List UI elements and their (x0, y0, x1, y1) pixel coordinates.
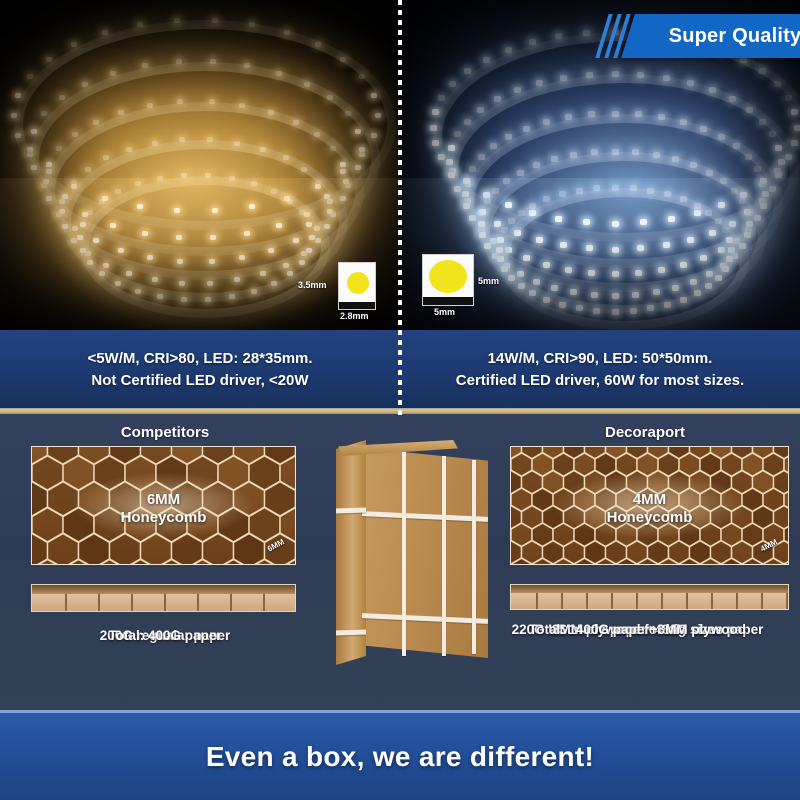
competitor-spec-line-2: Not Certified LED driver, <20W (91, 372, 308, 389)
decoraport-honeycomb-edge-strip (510, 584, 789, 610)
decoraport-led-chip-callout: 5mm 5mm (422, 254, 474, 306)
led-chip-width-label-right: 5mm (434, 307, 455, 317)
footer-headline: Even a box, we are different! (206, 741, 594, 773)
competitor-honeycomb-edge-strip (31, 584, 296, 612)
honeycomb-caption-left-line1: 6MM (32, 491, 295, 508)
led-chip-width-label: 2.8mm (340, 311, 369, 321)
led-chip-height-label: 3.5mm (298, 280, 327, 290)
strap-side-1 (336, 507, 366, 513)
cardboard-carton-illustration (336, 440, 488, 665)
honeycomb-caption-right: 4MM Honeycomb (511, 491, 788, 526)
competitor-led-chip-callout: 3.5mm 2.8mm (338, 262, 376, 310)
competitor-note-line-2: Total: 400G paper (0, 626, 330, 647)
decoraport-honeycomb-panel: 4MM Honeycomb 4MM (510, 446, 789, 565)
led-chip-body (338, 262, 376, 310)
competitor-honeycomb-panel: 6MM Honeycomb 6MM (31, 446, 296, 565)
decoraport-spec-block: 14W/M, CRI>90, LED: 50*50mm. Certified L… (400, 330, 800, 408)
carton-front-face (362, 448, 488, 658)
strap-side-2 (336, 629, 366, 635)
strap-vertical-2 (442, 456, 446, 656)
infographic-page: 3.5mm 2.8mm 5mm 5mm Super Quality (0, 0, 800, 800)
footer-banner: Even a box, we are different! (0, 713, 800, 800)
decoraport-note-line-3: Total: 1400G paper+3MM plywood (475, 620, 800, 641)
led-chip-phosphor-large (429, 260, 467, 293)
honeycomb-caption-left-line2: Honeycomb (32, 509, 295, 526)
column-title-competitors: Competitors (0, 424, 330, 441)
honeycomb-caption-right-line1: 4MM (511, 491, 788, 508)
column-title-decoraport: Decoraport (490, 424, 800, 441)
competitor-spec-block: <5W/M, CRI>80, LED: 28*35mm. Not Certifi… (0, 330, 400, 408)
competitor-led-strip-photo: 3.5mm 2.8mm (0, 0, 400, 330)
honeycomb-caption-left: 6MM Honeycomb (32, 491, 295, 526)
vertical-dashed-divider (398, 0, 402, 420)
strap-vertical-3 (472, 460, 476, 654)
decoraport-spec-line-1: 14W/M, CRI>90, LED: 50*50mm. (488, 350, 713, 367)
decoraport-spec-line-2: Certified LED driver, 60W for most sizes… (456, 372, 744, 389)
led-chip-height-label-right: 5mm (478, 276, 499, 286)
honeycomb-caption-right-line2: Honeycomb (511, 509, 788, 526)
led-chip-body-large (422, 254, 474, 306)
strap-vertical-1 (402, 452, 406, 656)
badge-label: Super Quality (640, 14, 800, 58)
competitor-spec-line-1: <5W/M, CRI>80, LED: 28*35mm. (87, 350, 312, 367)
led-chip-phosphor (347, 272, 369, 294)
